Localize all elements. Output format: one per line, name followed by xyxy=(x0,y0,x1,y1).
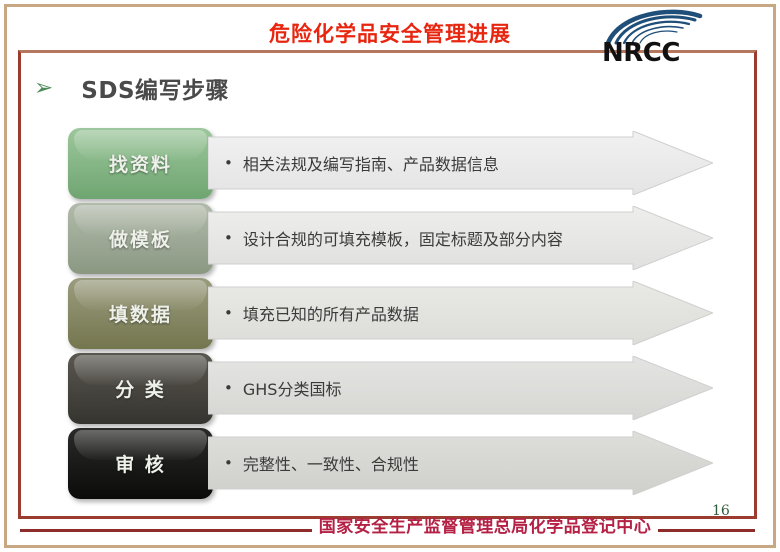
process-step-description: •完整性、一致性、合规性 xyxy=(224,431,419,495)
process-step-row[interactable]: 做模板•设计合规的可填充模板，固定标题及部分内容 xyxy=(68,203,718,276)
section-heading: ➢ SDS编写步骤 xyxy=(34,71,229,105)
process-step-row[interactable]: 分 类•GHS分类国标 xyxy=(68,353,718,426)
process-step-chip-label: 填数据 xyxy=(109,300,172,327)
process-step-chip-label: 分 类 xyxy=(115,375,166,402)
process-step-description-label: 设计合规的可填充模板，固定标题及部分内容 xyxy=(243,226,563,250)
page-number: 16 xyxy=(712,503,730,519)
section-heading-label: SDS编写步骤 xyxy=(81,71,229,105)
bullet-icon: • xyxy=(224,306,233,321)
nrcc-logo: NRCC xyxy=(600,8,718,64)
process-step-row[interactable]: 审 核•完整性、一致性、合规性 xyxy=(68,428,718,501)
bullet-icon: • xyxy=(224,231,233,246)
bullet-icon: • xyxy=(224,381,233,396)
process-step-chip[interactable]: 做模板 xyxy=(68,203,213,274)
process-step-arrow: •GHS分类国标 xyxy=(208,356,713,420)
header-rule-left xyxy=(18,50,598,53)
process-step-chip[interactable]: 找资料 xyxy=(68,128,213,199)
bullet-icon: • xyxy=(224,156,233,171)
footer-rule-left xyxy=(20,529,312,532)
process-step-description-label: 相关法规及编写指南、产品数据信息 xyxy=(243,151,499,175)
footer-rule-right xyxy=(658,529,755,532)
process-step-row[interactable]: 填数据•填充已知的所有产品数据 xyxy=(68,278,718,351)
footer-organization-label: 国家安全生产监督管理总局化学品登记中心 xyxy=(310,512,660,537)
slide: 危险化学品安全管理进展 NRCC ➢ SDS编写步骤 找资料•相关法规及编写指南… xyxy=(0,0,780,552)
process-step-arrow: •设计合规的可填充模板，固定标题及部分内容 xyxy=(208,206,713,270)
bullet-icon: • xyxy=(224,456,233,471)
slide-footer: 国家安全生产监督管理总局化学品登记中心 xyxy=(18,512,757,540)
process-step-description-label: 完整性、一致性、合规性 xyxy=(243,451,419,475)
process-step-chip[interactable]: 填数据 xyxy=(68,278,213,349)
process-step-chip-label: 找资料 xyxy=(109,150,172,177)
header-rule-right-drop xyxy=(754,50,757,62)
arrow-bullet-icon: ➢ xyxy=(34,77,53,100)
nrcc-logo-svg: NRCC xyxy=(600,8,718,64)
process-step-arrow: •完整性、一致性、合规性 xyxy=(208,431,713,495)
process-step-chip[interactable]: 分 类 xyxy=(68,353,213,424)
process-step-description: •填充已知的所有产品数据 xyxy=(224,281,419,345)
process-step-description: •GHS分类国标 xyxy=(224,356,341,420)
process-step-arrow: •填充已知的所有产品数据 xyxy=(208,281,713,345)
process-step-description: •相关法规及编写指南、产品数据信息 xyxy=(224,131,499,195)
logo-wordmark: NRCC xyxy=(602,38,680,64)
process-step-description: •设计合规的可填充模板，固定标题及部分内容 xyxy=(224,206,563,270)
process-step-chip-label: 审 核 xyxy=(115,450,166,477)
process-step-chip-label: 做模板 xyxy=(109,225,172,252)
process-step-arrow: •相关法规及编写指南、产品数据信息 xyxy=(208,131,713,195)
process-step-chip[interactable]: 审 核 xyxy=(68,428,213,499)
process-step-description-label: 填充已知的所有产品数据 xyxy=(243,301,419,325)
process-step-row[interactable]: 找资料•相关法规及编写指南、产品数据信息 xyxy=(68,128,718,201)
process-step-description-label: GHS分类国标 xyxy=(243,376,342,400)
